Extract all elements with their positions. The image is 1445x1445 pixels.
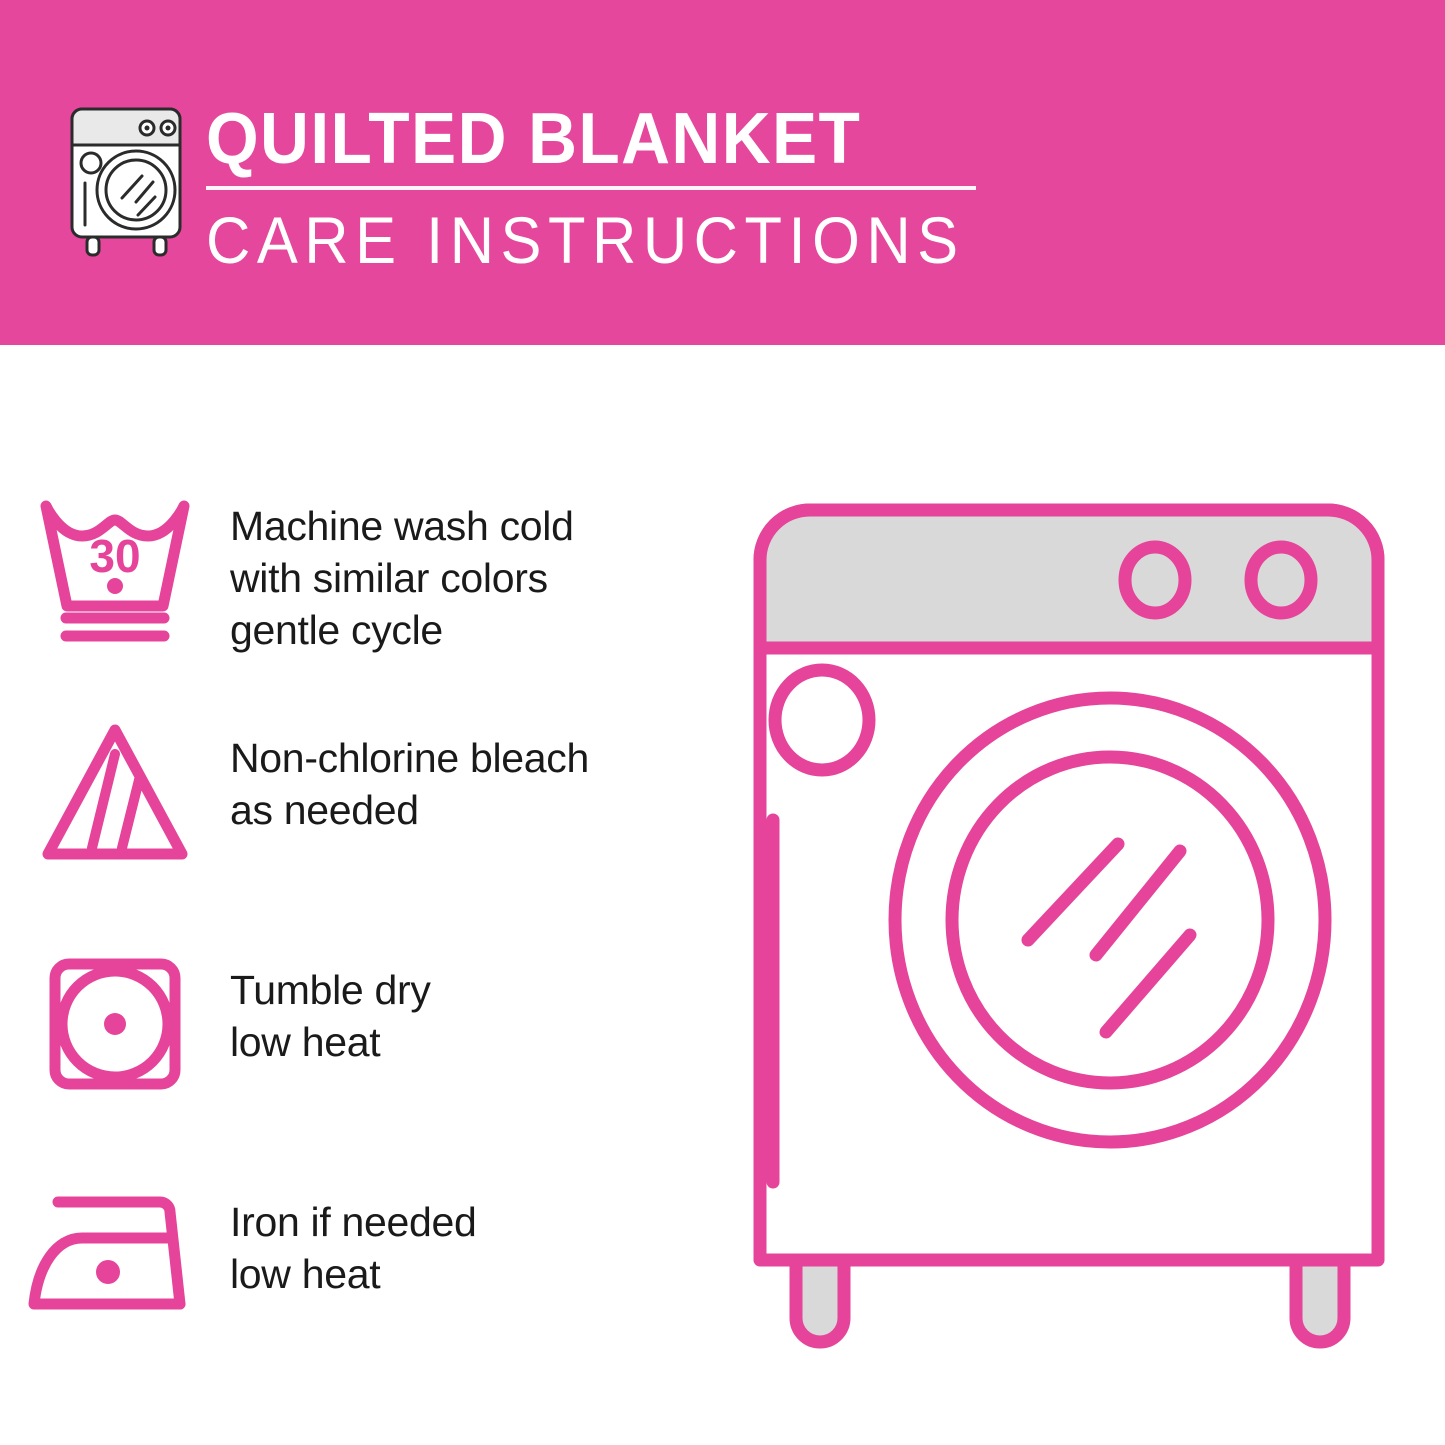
instruction-line: Tumble dry — [230, 964, 431, 1016]
instruction-list: 30 Machine wash cold with similar colors… — [0, 470, 700, 1398]
header-band: QUILTED BLANKET CARE INSTRUCTIONS — [0, 0, 1445, 345]
page-subtitle: CARE INSTRUCTIONS — [206, 204, 941, 276]
instruction-line: with similar colors — [230, 552, 574, 604]
instruction-line: low heat — [230, 1016, 431, 1068]
foot-left — [796, 1260, 844, 1342]
instruction-row-wash: 30 Machine wash cold with similar colors… — [0, 470, 700, 702]
front-load-washing-machine-illustration — [718, 470, 1418, 1365]
instruction-text-iron: Iron if needed low heat — [230, 1166, 477, 1300]
iron-low-heat-icon — [0, 1166, 230, 1346]
washing-machine-logo-icon — [62, 103, 190, 258]
tumble-dry-low-heat-icon — [0, 934, 230, 1114]
knob-left — [1125, 547, 1185, 613]
instruction-line: gentle cycle — [230, 604, 574, 656]
instruction-text-wash: Machine wash cold with similar colors ge… — [230, 470, 574, 656]
title-divider — [206, 186, 976, 190]
instruction-text-tumble-dry: Tumble dry low heat — [230, 934, 431, 1068]
header-text-block: QUILTED BLANKET CARE INSTRUCTIONS — [206, 100, 996, 276]
instruction-row-bleach: Non-chlorine bleach as needed — [0, 702, 700, 934]
instruction-text-bleach: Non-chlorine bleach as needed — [230, 702, 589, 836]
instruction-line: Machine wash cold — [230, 500, 574, 552]
knob-right — [1251, 547, 1311, 613]
instruction-line: low heat — [230, 1248, 477, 1300]
instruction-line: Non-chlorine bleach — [230, 732, 589, 784]
page-title: QUILTED BLANKET — [206, 100, 949, 178]
foot-right — [1296, 1260, 1344, 1342]
bleach-triangle-non-chlorine-icon — [0, 702, 230, 882]
instruction-line: Iron if needed — [230, 1196, 477, 1248]
instruction-row-iron: Iron if needed low heat — [0, 1166, 700, 1398]
wash-tub-30-gentle-icon: 30 — [0, 470, 230, 650]
instruction-row-tumble-dry: Tumble dry low heat — [0, 934, 700, 1166]
wash-temperature-label: 30 — [89, 530, 140, 582]
detergent-drawer-circle — [775, 670, 869, 770]
instruction-line: as needed — [230, 784, 589, 836]
